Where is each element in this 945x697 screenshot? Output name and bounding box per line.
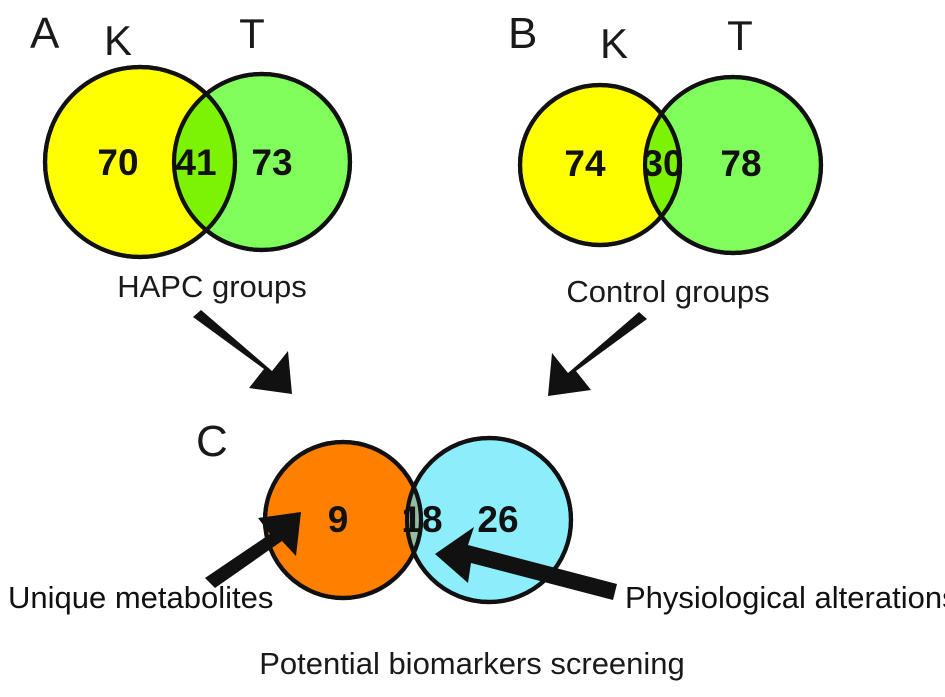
- panel-a-intersection-count: 41: [175, 142, 216, 183]
- panel-c: C 9 18 26 Unique metabolites Physiologic…: [8, 417, 945, 681]
- panel-b: B K T 74 30 78 Control groups: [508, 9, 821, 309]
- panel-b-caption: Control groups: [566, 274, 769, 309]
- panel-c-intersection-count: 18: [401, 499, 442, 540]
- panel-b-intersection-count: 30: [642, 143, 683, 184]
- venn-figure: A K T 70 41 73 HAPC groups B K T: [0, 0, 945, 697]
- panel-b-letter: B: [508, 9, 537, 58]
- panel-c-caption: Potential biomarkers screening: [259, 646, 685, 681]
- panel-a-letter: A: [30, 9, 60, 58]
- panel-b-right-only-count: 78: [720, 143, 761, 184]
- panel-a-right-set-label: T: [239, 10, 265, 57]
- panel-b-right-set-label: T: [727, 12, 753, 59]
- figure-canvas: A K T 70 41 73 HAPC groups B K T: [0, 0, 945, 697]
- panel-b-left-set-label: K: [600, 20, 628, 67]
- panel-c-right-only-count: 26: [477, 499, 518, 540]
- panel-a: A K T 70 41 73 HAPC groups: [30, 9, 350, 304]
- panel-a-caption: HAPC groups: [117, 269, 307, 304]
- panel-b-left-only-count: 74: [564, 143, 606, 184]
- panel-a-left-set-label: K: [104, 17, 132, 64]
- panel-c-letter: C: [196, 417, 228, 466]
- arrow-b-to-c: [548, 312, 647, 396]
- panel-a-right-only-count: 73: [251, 142, 292, 183]
- panel-c-right-annotation: Physiological alterations: [625, 580, 945, 615]
- panel-a-left-only-count: 70: [97, 142, 138, 183]
- panel-c-left-only-count: 9: [328, 499, 349, 540]
- arrow-a-to-c: [193, 310, 292, 394]
- panel-c-left-annotation: Unique metabolites: [8, 580, 273, 615]
